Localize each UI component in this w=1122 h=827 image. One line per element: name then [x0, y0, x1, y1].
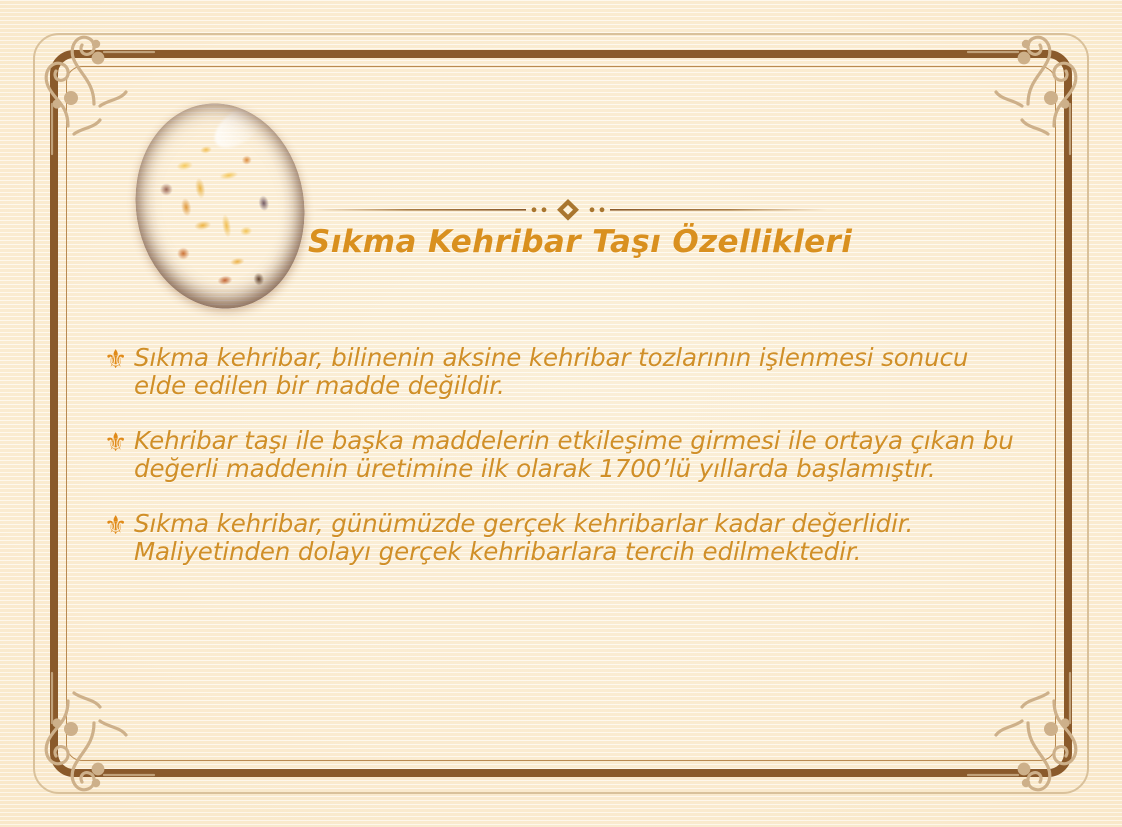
- corner-scroll-flourish-icon-bottom-right: [964, 669, 1114, 819]
- diamond-divider-ornament-icon: [308, 196, 828, 224]
- list-item: ⚜ Kehribar taşı ile başka maddelerin etk…: [104, 427, 1024, 484]
- fleur-de-lis-icon: ⚜: [104, 428, 134, 458]
- infographic-page: Sıkma Kehribar Taşı Özellikleri ⚜ Sıkma …: [0, 0, 1122, 827]
- page-title: Sıkma Kehribar Taşı Özellikleri: [300, 224, 1030, 260]
- list-item-text: Sıkma kehribar, bilinenin aksine kehriba…: [134, 344, 1024, 401]
- amber-stone-photo: [136, 103, 304, 309]
- feature-list: ⚜ Sıkma kehribar, bilinenin aksine kehri…: [104, 344, 1024, 566]
- amber-stone-oval: [121, 91, 319, 321]
- fleur-de-lis-icon: ⚜: [104, 345, 134, 375]
- fleur-de-lis-icon: ⚜: [104, 511, 134, 541]
- corner-scroll-flourish-icon-bottom-left: [8, 669, 158, 819]
- corner-scroll-flourish-icon-top-right: [964, 8, 1114, 158]
- title-block: Sıkma Kehribar Taşı Özellikleri: [300, 196, 1030, 260]
- list-item: ⚜ Sıkma kehribar, günümüzde gerçek kehri…: [104, 510, 1024, 567]
- list-item-text: Sıkma kehribar, günümüzde gerçek kehriba…: [134, 510, 1024, 567]
- list-item-text: Kehribar taşı ile başka maddelerin etkil…: [134, 427, 1024, 484]
- list-item: ⚜ Sıkma kehribar, bilinenin aksine kehri…: [104, 344, 1024, 401]
